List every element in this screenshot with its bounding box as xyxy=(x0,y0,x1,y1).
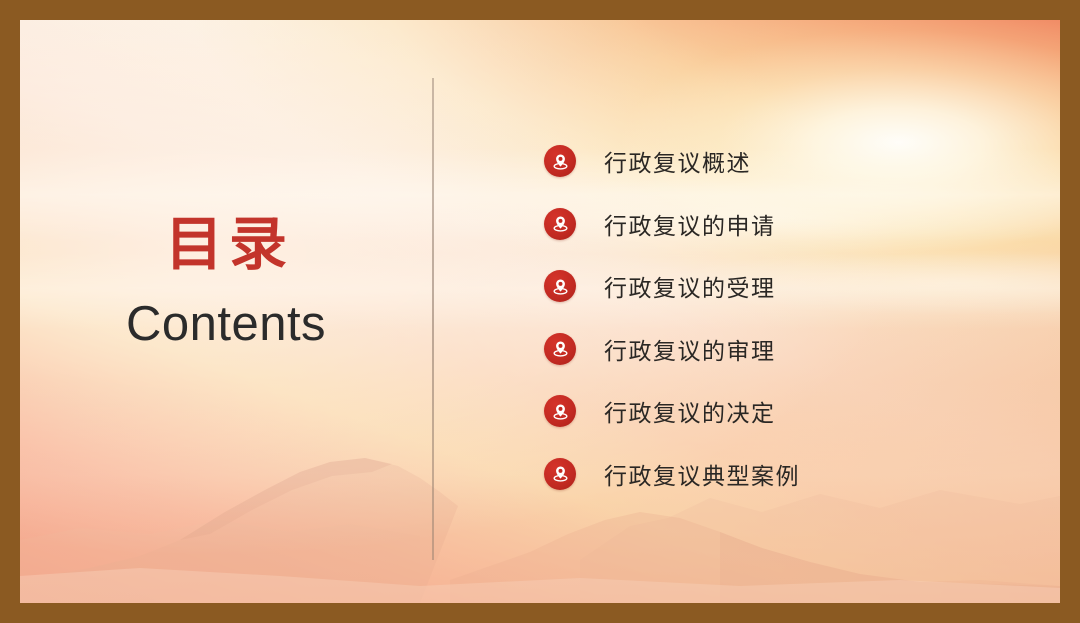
presentation-slide: 目录 Contents 行政复议概述 xyxy=(0,0,1080,623)
toc-item-label: 行政复议的受理 xyxy=(604,269,776,303)
location-pin-icon xyxy=(544,395,576,427)
toc-item-label: 行政复议的决定 xyxy=(604,394,776,428)
toc-item-3[interactable]: 行政复议的受理 xyxy=(544,255,1044,318)
location-pin-icon xyxy=(544,458,576,490)
toc-item-label: 行政复议概述 xyxy=(604,144,751,178)
page-title-english: Contents xyxy=(20,300,432,349)
toc-item-label: 行政复议的审理 xyxy=(604,332,776,366)
toc-item-4[interactable]: 行政复议的审理 xyxy=(544,318,1044,381)
location-pin-icon xyxy=(544,208,576,240)
toc-item-label: 行政复议典型案例 xyxy=(604,457,800,491)
slide-canvas: 目录 Contents 行政复议概述 xyxy=(20,20,1060,603)
toc-item-1[interactable]: 行政复议概述 xyxy=(544,130,1044,193)
location-pin-icon xyxy=(544,145,576,177)
location-pin-icon xyxy=(544,333,576,365)
title-block: 目录 Contents xyxy=(20,216,432,349)
page-title-chinese: 目录 xyxy=(20,216,432,274)
vertical-divider xyxy=(432,78,434,560)
toc-item-6[interactable]: 行政复议典型案例 xyxy=(544,443,1044,506)
location-pin-icon xyxy=(544,270,576,302)
toc-item-2[interactable]: 行政复议的申请 xyxy=(544,193,1044,256)
toc-item-label: 行政复议的申请 xyxy=(604,207,776,241)
toc-item-5[interactable]: 行政复议的决定 xyxy=(544,380,1044,443)
table-of-contents-list: 行政复议概述 行政复议的申请 xyxy=(544,130,1044,505)
slide-content: 目录 Contents 行政复议概述 xyxy=(20,20,1060,603)
